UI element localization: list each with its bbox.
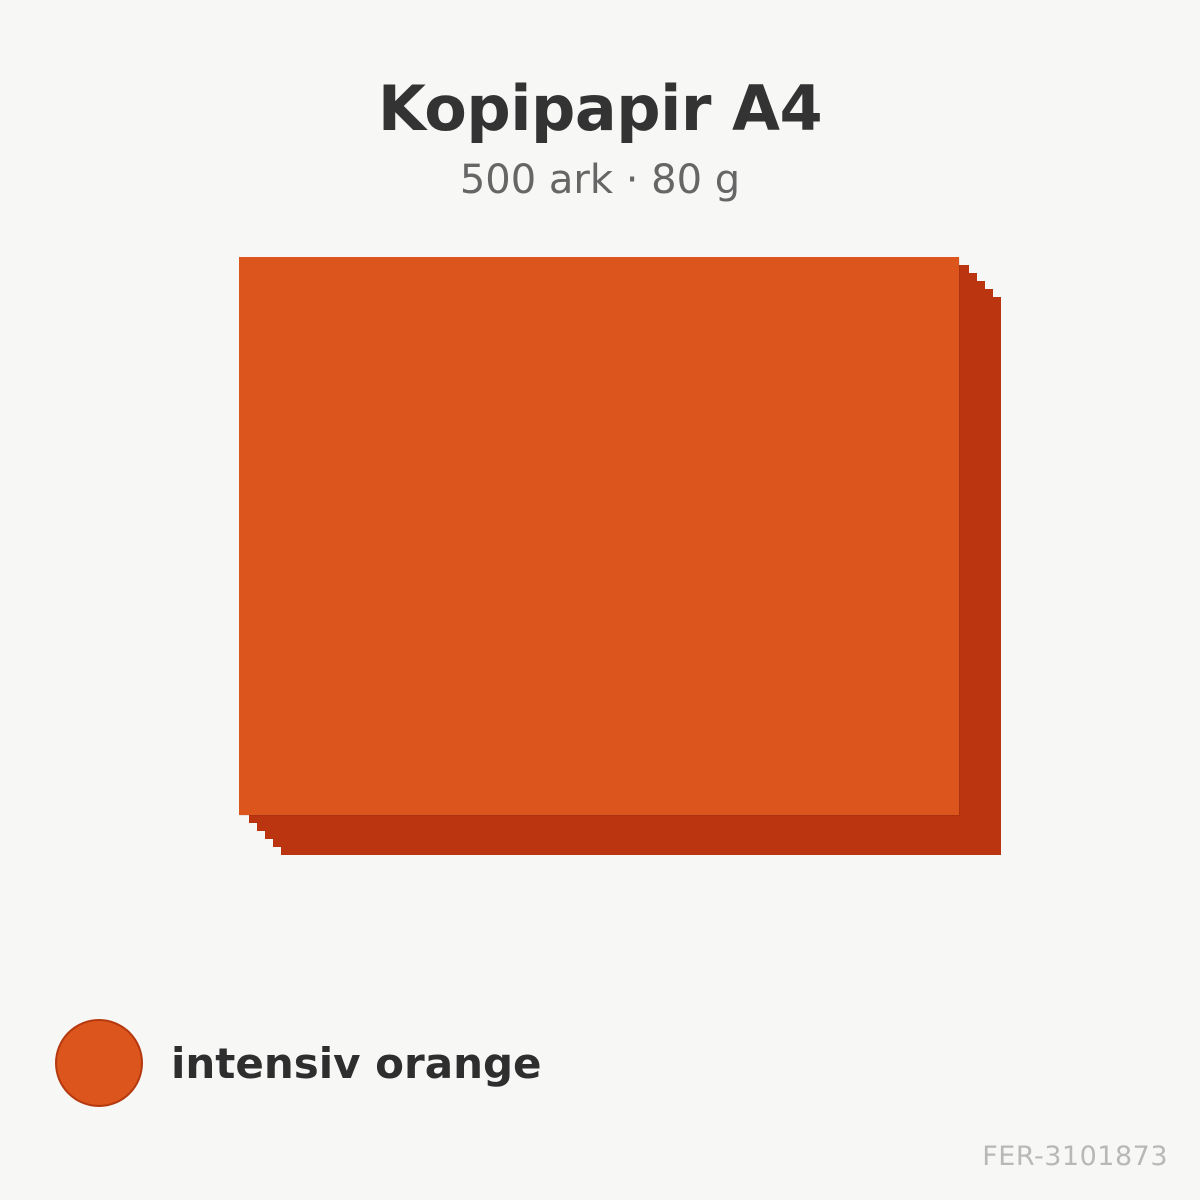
color-swatch-circle-icon (55, 1019, 143, 1107)
product-header: Kopipapir A4 500 ark · 80 g (0, 0, 1200, 200)
color-swatch-row: intensiv orange (55, 1019, 542, 1107)
paper-stack-illustration (239, 257, 1001, 857)
page-title: Kopipapir A4 (0, 78, 1200, 140)
paper-sheet-top (239, 257, 959, 815)
color-swatch-label: intensiv orange (171, 1039, 542, 1088)
article-code: FER-3101873 (982, 1141, 1168, 1172)
product-subtitle: 500 ark · 80 g (0, 160, 1200, 200)
